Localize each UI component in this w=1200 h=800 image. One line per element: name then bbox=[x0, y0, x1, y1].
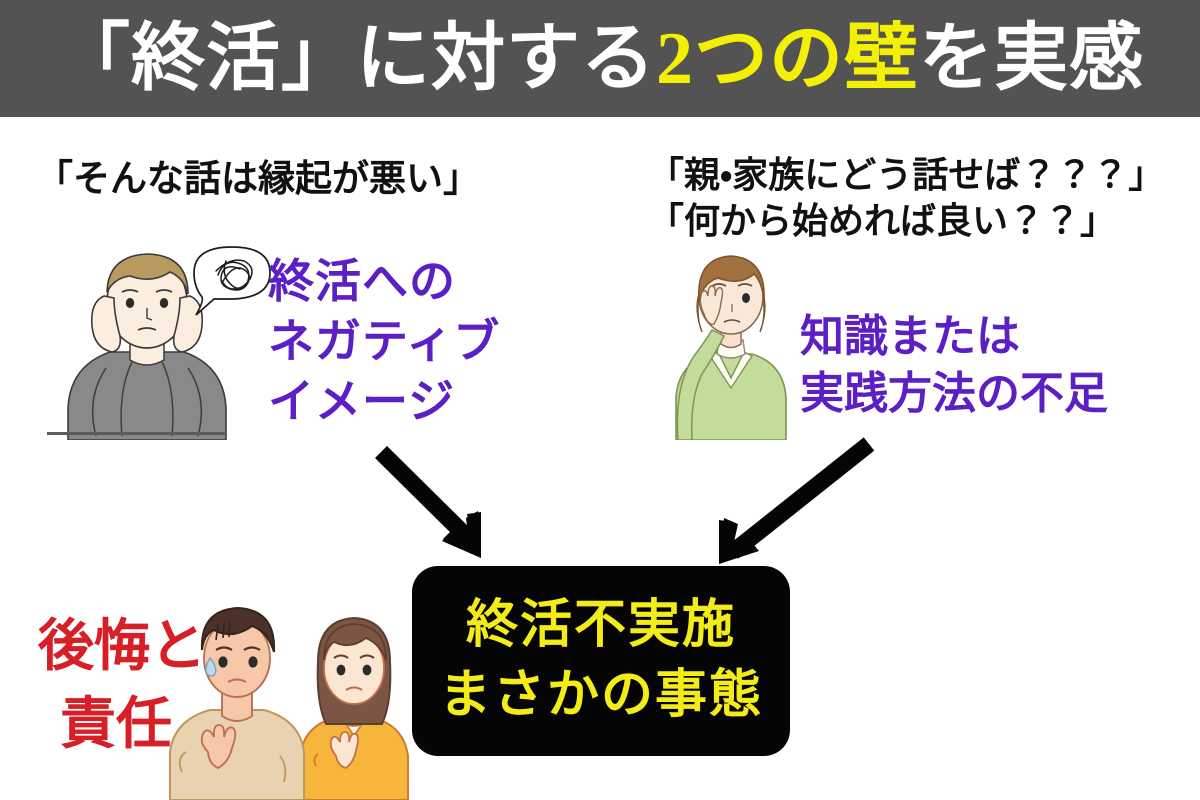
infographic-canvas: 「終活」に対する2つの壁を実感 「そんな話は縁起が悪い」 「親・家族にどう話せば… bbox=[0, 0, 1200, 800]
worried-couple-illustration bbox=[166, 606, 416, 800]
outcome-line-1: 終活不実施 bbox=[466, 591, 736, 661]
arrow-down-left-icon bbox=[719, 444, 869, 564]
outcome-line-2: まさかの事態 bbox=[439, 661, 763, 731]
arrow-down-right-icon bbox=[381, 452, 481, 558]
outcome-callout-box: 終活不実施 まさかの事態 bbox=[412, 566, 790, 756]
